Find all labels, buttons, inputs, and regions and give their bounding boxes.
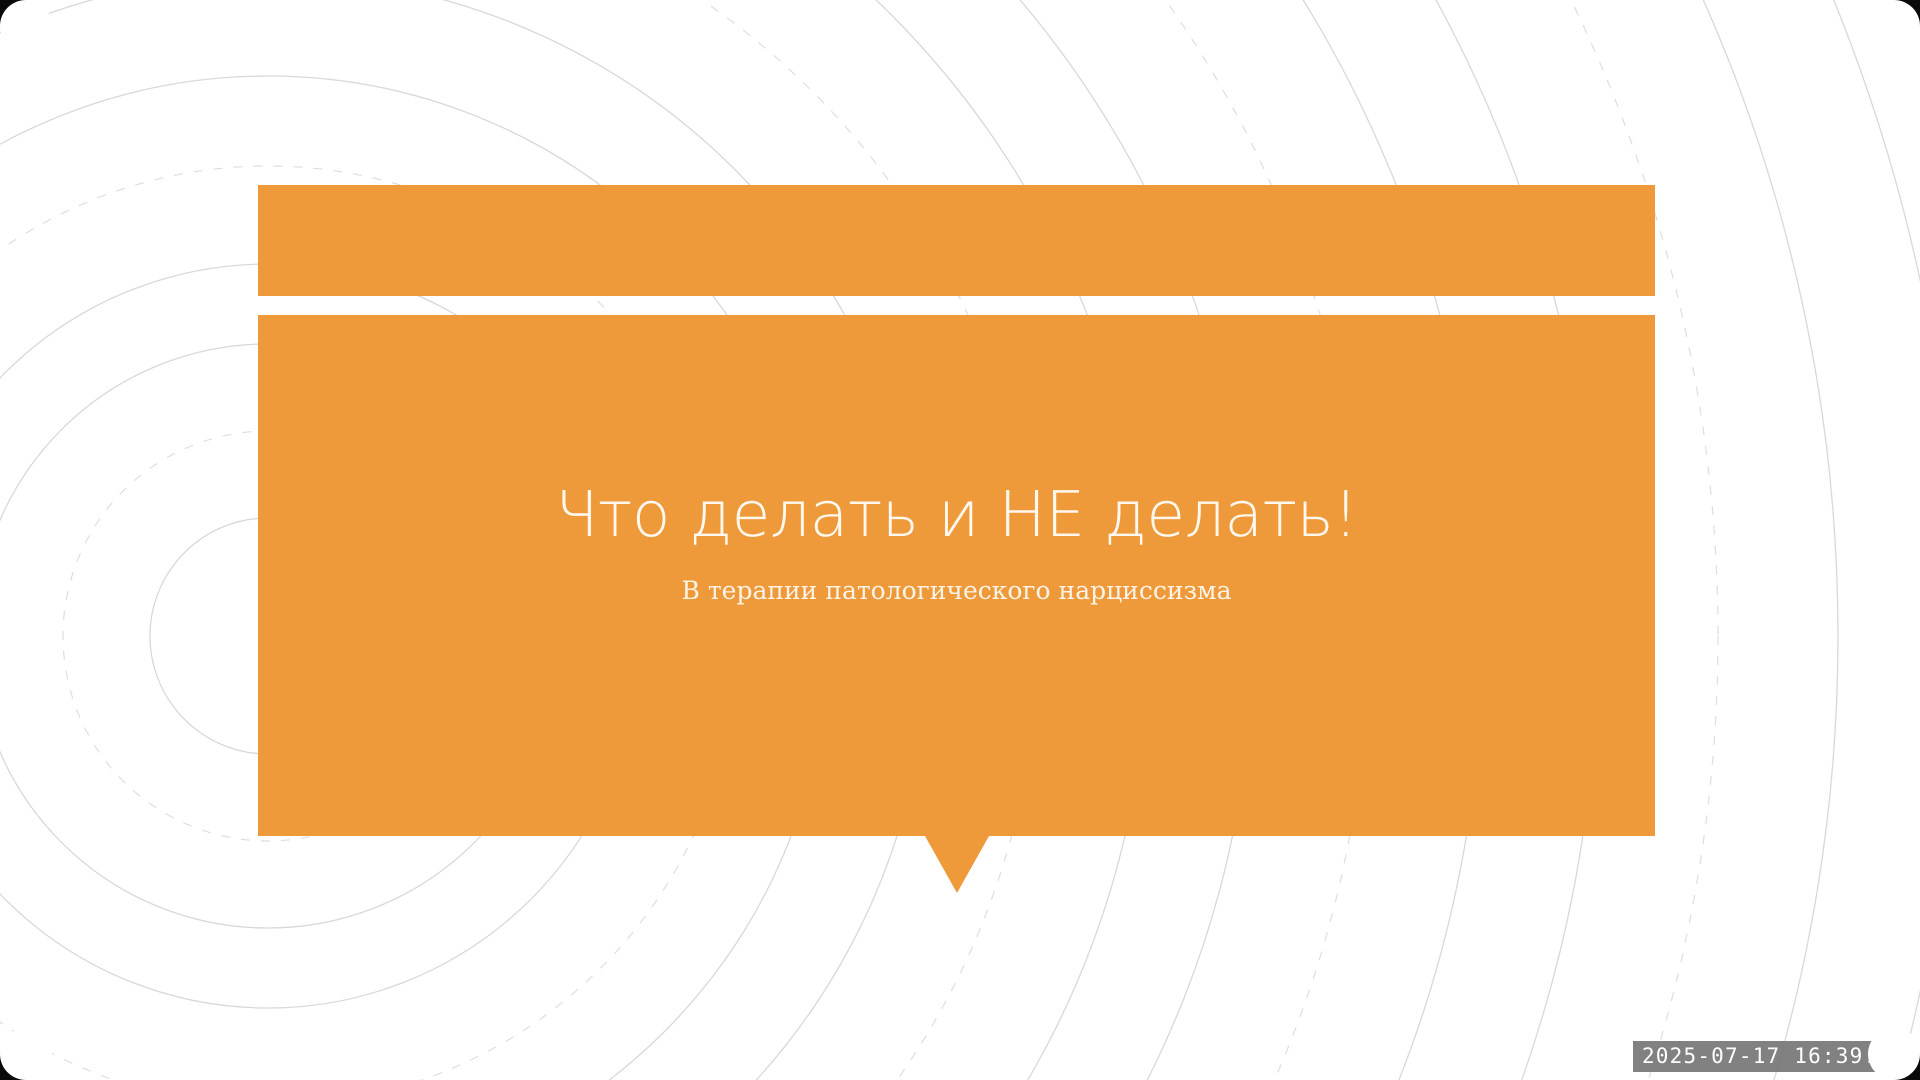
frame-corner-top-left: [0, 0, 26, 26]
frame-corner-bottom-left: [0, 1054, 26, 1080]
timestamp-watermark: 2025-07-17 16:39:06: [1633, 1041, 1914, 1072]
slide-text-block: Что делать и НЕ делать! В терапии патоло…: [258, 315, 1655, 836]
frame-corner-top-right: [1894, 0, 1920, 26]
bubble-accent-bar: [258, 185, 1655, 296]
slide-subtitle: В терапии патологического нарциссизма: [682, 576, 1232, 606]
bubble-tail-pointer: [925, 836, 989, 893]
slide-canvas: Что делать и НЕ делать! В терапии патоло…: [0, 0, 1920, 1080]
slide-title: Что делать и НЕ делать!: [555, 482, 1358, 548]
